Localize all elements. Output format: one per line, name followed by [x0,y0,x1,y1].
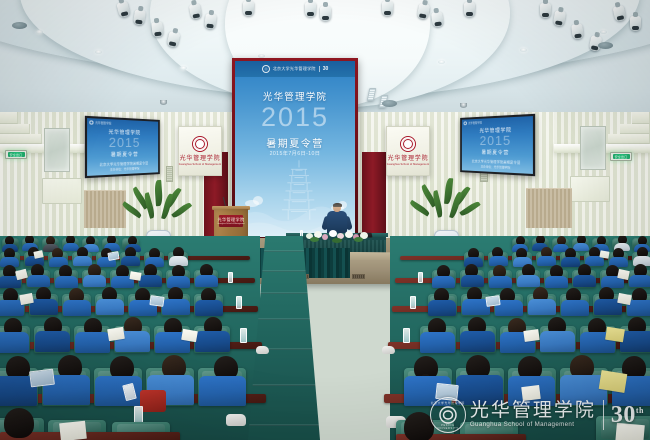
audience-person [456,375,503,405]
tablet-device [485,295,500,307]
backdrop-top-bar: 北京大学光华管理学院 30 [235,61,355,77]
audience-person [461,275,484,287]
wall-step [608,134,650,144]
notebook [599,370,628,393]
audience-person [517,275,540,287]
dome-camera-icon [160,100,167,105]
wall-step [0,112,18,124]
ceiling-spotlight-icon [464,2,475,17]
audience-person [27,275,50,287]
audience-person [573,275,596,287]
water-bottle [418,272,423,283]
wall-step [0,124,30,134]
ceiling-spotlight-icon [305,2,316,17]
backpack [140,390,166,412]
audience-person [561,257,580,267]
downlight-icon [180,66,187,70]
banner-right-en: Guanghua School of Management [387,163,429,166]
guanghua-seal-icon [192,136,208,152]
downlight-icon [36,30,43,34]
audience-person [561,300,589,316]
shoe [382,346,395,354]
screen-left-logo: 光华管理学院 [89,120,111,125]
audience-person [199,376,246,406]
water-bottle [228,272,233,283]
audience-person [96,299,124,315]
wall-wood-strip [84,190,126,228]
ceiling-spotlight-icon [243,1,254,16]
audience-person [83,275,106,287]
wall-step [620,124,650,134]
audience-person [420,332,455,353]
wall-frame-panel [42,178,82,204]
auditorium-photo: 安全出口 安全出口 北京大学光华管理学院 30 [0,0,650,440]
tablet-device [435,383,459,401]
audience-person [620,331,650,352]
audience-person [540,331,575,352]
screen-right-event: 暑期夏令营 [462,149,533,157]
ceiling-vent [382,100,397,107]
audience-person [428,300,456,316]
audience-head [4,408,34,438]
audience-person [30,299,58,315]
water-bottle [410,296,416,309]
backdrop-event-date: 2015年7月6日-10日 [235,150,355,157]
peking-university-seal-icon [262,65,270,73]
backdrop-cloud [253,196,263,205]
handout-paper [107,327,125,341]
handout-paper [129,271,141,281]
water-bottle [403,328,410,343]
downlight-icon [438,60,445,64]
ceiling-spotlight-icon [382,1,393,16]
handout-paper [521,385,541,401]
wall-glass-panel [580,126,606,170]
peking-university-seal-icon [89,120,93,124]
audience-person [195,275,218,287]
ceiling-spotlight-icon [571,23,584,39]
water-bottle [236,296,242,309]
ceiling-vent [12,22,27,29]
screen-left-event: 暑期夏令营 [87,151,158,159]
handout-paper [523,329,539,342]
screen-right-year: 2015 [462,133,533,148]
standing-banner-right: 光华管理学院 Guanghua School of Management [386,126,430,176]
projection-screen-left: 光华管理学院 光华管理学院 2015 暑期夏令营 北京大学光华管理学院暑期夏令营… [85,116,160,178]
screen-left-year: 2015 [87,135,158,150]
handout-paper [615,423,645,440]
speaker-hair [333,203,342,207]
podium-plaque-cn: 光华管理学院 [218,217,245,223]
audience-person [0,332,29,353]
guanghua-seal-icon [400,136,416,152]
shoe [226,414,246,426]
audience-person [460,331,495,352]
banner-right-cn: 光华管理学院 [388,153,429,162]
audience-person [195,331,230,352]
audience-person [162,299,190,315]
downlight-icon [95,50,102,54]
tablet-device [29,369,55,388]
water-bottle [240,328,247,343]
ceiling-spotlight-icon [630,16,641,31]
wall-step [632,112,650,124]
backdrop-year: 2015 [235,102,355,132]
shoe [256,346,269,354]
downlight-icon [520,48,527,52]
handout-paper [59,421,87,440]
projection-screen-right: 光华管理学院 光华管理学院 2015 暑期夏令营 北京大学光华管理学院暑期夏令营… [460,114,535,176]
audience-person [545,276,568,288]
screen-right-logo-label: 光华管理学院 [468,121,482,125]
audience-person [55,276,78,288]
audience-person [629,275,650,287]
backdrop-logo-label: 北京大学光华管理学院 [273,66,316,72]
wall-glass-panel [44,128,70,172]
screen-left-logo-label: 光华管理学院 [95,121,111,126]
audience-person [75,332,110,353]
audience-person [139,275,162,287]
audience-person [195,300,223,316]
ceiling-spotlight-icon [151,21,164,37]
audience-person [432,276,455,288]
podium-plaque: 光华管理学院 Guanghua School of Management [219,215,243,227]
handout-paper [181,329,198,342]
exit-sign-left-label: 安全出口 [10,153,23,157]
exit-sign-left: 安全出口 [5,150,27,159]
wall-frame-panel [570,176,610,202]
wall-wood-strip [526,188,572,228]
ceiling-spotlight-icon [320,6,331,21]
audience-person [528,299,556,315]
standing-banner-left: 光华管理学院 Guanghua School of Management [178,126,222,176]
audience-person [35,331,70,352]
banner-left-en: Guanghua School of Management [179,163,221,166]
dome-camera-icon [460,103,467,108]
audience-head [404,412,434,440]
banner-left-cn: 光华管理学院 [180,153,221,162]
exit-sign-right-label: 安全出口 [615,155,628,159]
peking-university-seal-icon [464,121,467,125]
handout-paper [599,250,609,258]
exit-sign-right: 安全出口 [610,152,632,161]
tablet-device [149,295,164,307]
audience-person [167,276,190,288]
podium-plaque-en: Guanghua School of Management [217,223,244,225]
ceiling-spotlight-icon [431,11,444,27]
ceiling-vent [598,42,613,49]
audience-person [73,256,92,266]
wall-step [0,134,42,144]
backdrop-school-name: 光华管理学院 [235,89,355,103]
downlight-icon [600,30,607,34]
audience-area [0,236,650,440]
screen-right-logo: 光华管理学院 [464,121,482,126]
ceiling-spotlight-icon [540,3,551,18]
backdrop-event-name: 暑期夏令营 [235,135,355,150]
audience-person [63,300,91,316]
handout-paper [605,327,625,343]
audience-person [573,243,589,251]
audience-person [489,276,512,288]
water-bottle [134,406,143,423]
backdrop-anniversary-badge: 30 [319,66,329,72]
